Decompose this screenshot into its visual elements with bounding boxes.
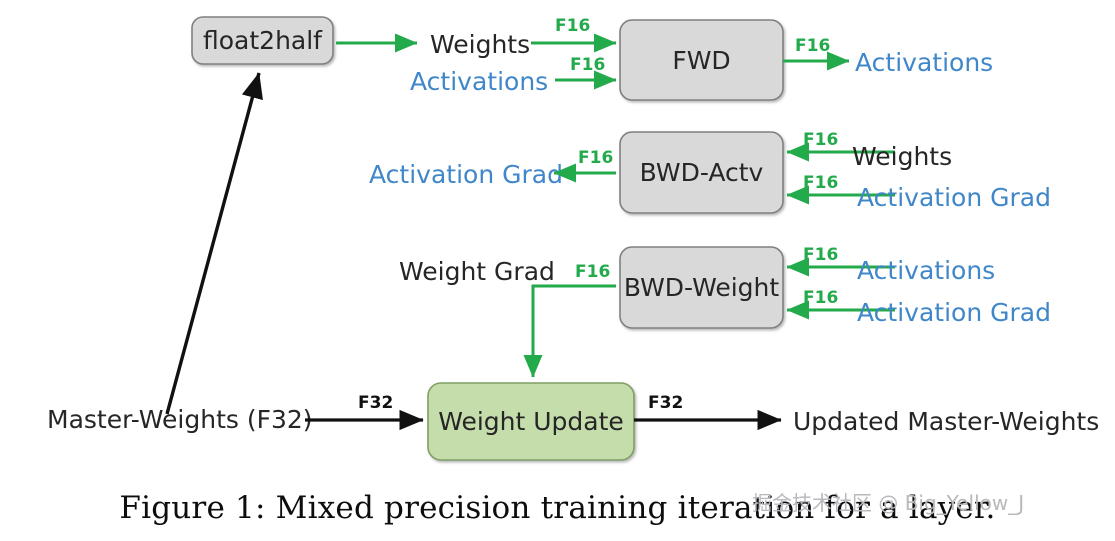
label-activation-grad-out: Activation Grad (369, 160, 563, 189)
tag-master-weights-in: F32 (358, 393, 393, 413)
edge-master-weights-to-float2half (167, 73, 259, 414)
tag-bwdactv-out: F16 (578, 148, 613, 168)
label-weights-bwdactv-in: Weights (852, 142, 952, 171)
bwd-actv-label: BWD-Actv (640, 158, 764, 187)
tag-fwd-out: F16 (795, 36, 830, 56)
mixed-precision-diagram: float2half FWD BWD-Actv BWD-Weight Weigh… (0, 0, 1115, 541)
weight-update-label: Weight Update (438, 407, 624, 436)
node-fwd[interactable]: FWD (620, 20, 783, 100)
tag-weight-update-out: F32 (648, 393, 683, 413)
fwd-label: FWD (672, 46, 730, 75)
tag-activations-fwd: F16 (570, 55, 605, 75)
label-activations-fwd-in: Activations (410, 67, 548, 96)
label-master-weights: Master-Weights (F32) (47, 405, 313, 434)
edge-bwdweight-to-weight-update (533, 286, 616, 377)
node-weight-update[interactable]: Weight Update (428, 383, 634, 460)
label-weights-fwd-in: Weights (430, 30, 530, 59)
tag-bwdweight-out: F16 (575, 262, 610, 282)
label-updated-master-weights: Updated Master-Weights (793, 407, 1099, 436)
tag-actgrad-bwdactv: F16 (803, 173, 838, 193)
figure-caption: Figure 1: Mixed precision training itera… (0, 490, 1115, 526)
label-weight-grad-out: Weight Grad (399, 257, 555, 286)
tag-weights-bwdactv: F16 (803, 130, 838, 150)
tag-weights-fwd: F16 (555, 16, 590, 36)
label-activations-bwdweight-in: Activations (857, 256, 995, 285)
label-activation-grad-bwdweight-in: Activation Grad (857, 298, 1051, 327)
bwd-weight-label: BWD-Weight (624, 273, 780, 302)
tag-actgrad-bwdweight: F16 (803, 288, 838, 308)
figure-container: float2half FWD BWD-Actv BWD-Weight Weigh… (0, 0, 1115, 541)
label-activation-grad-bwdactv-in: Activation Grad (857, 183, 1051, 212)
label-activations-fwd-out: Activations (855, 48, 993, 77)
tag-activations-bwdweight: F16 (803, 245, 838, 265)
node-bwd-weight[interactable]: BWD-Weight (620, 247, 783, 328)
node-bwd-actv[interactable]: BWD-Actv (620, 132, 783, 213)
float2half-label: float2half (203, 26, 323, 55)
node-float2half[interactable]: float2half (192, 17, 333, 64)
